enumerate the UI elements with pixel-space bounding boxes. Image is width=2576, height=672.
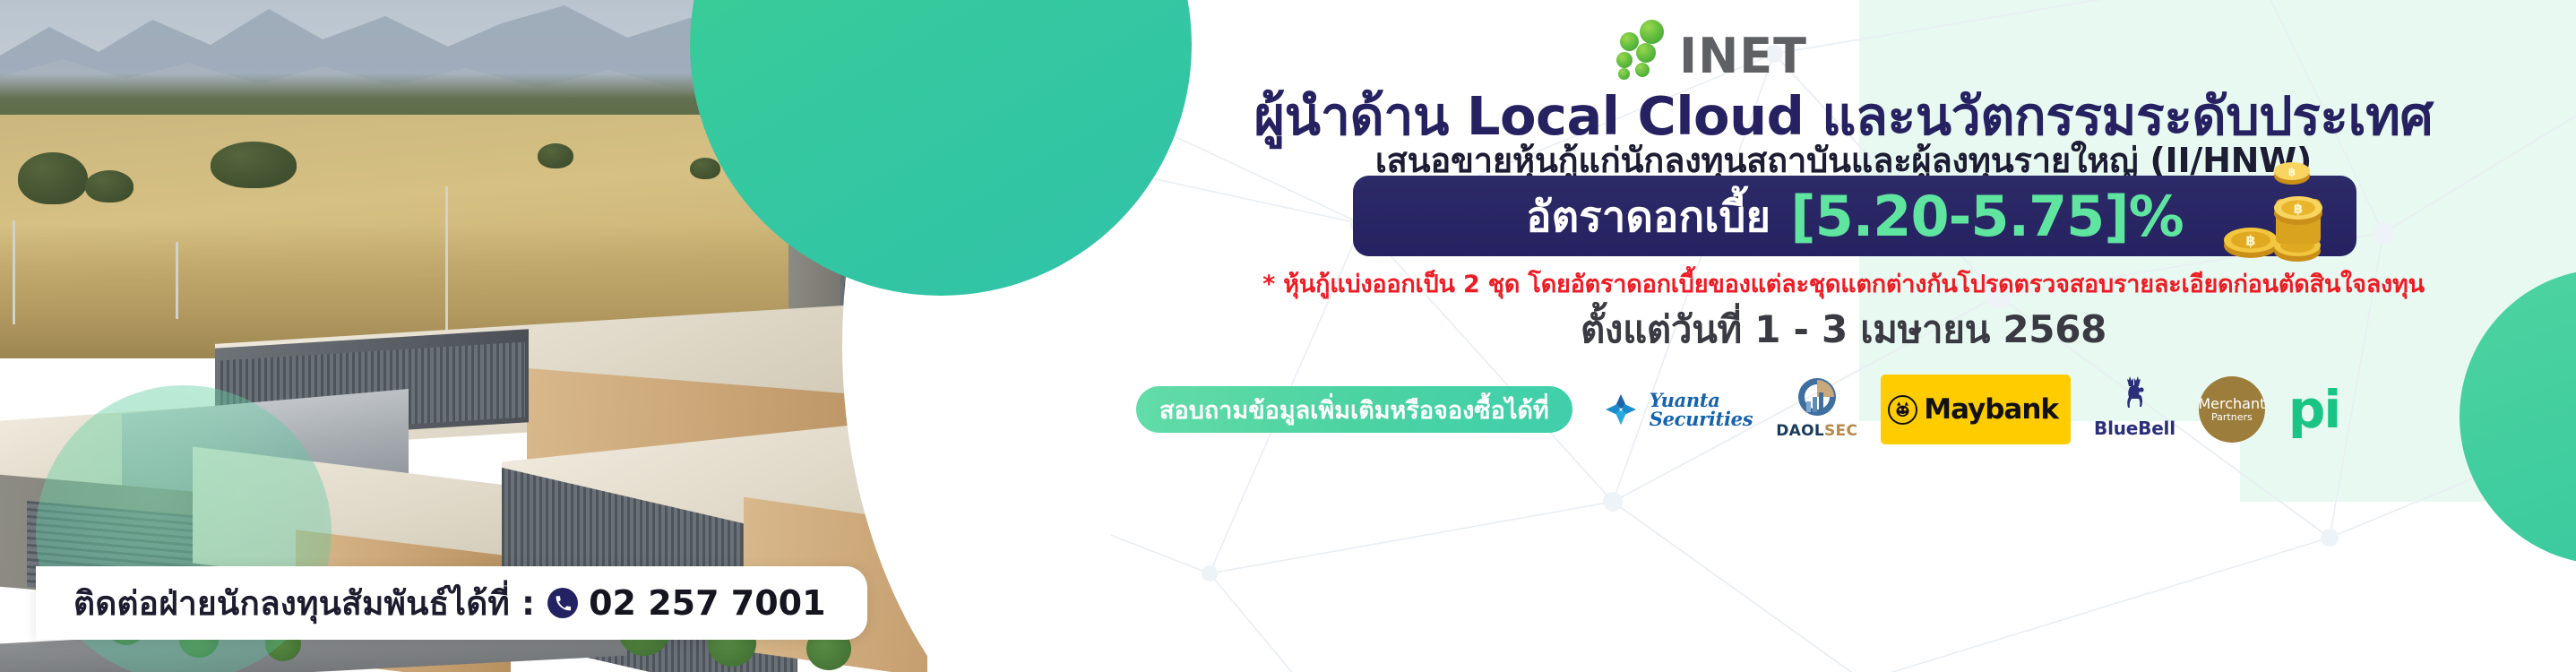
yuanta-star-icon	[1601, 390, 1641, 429]
interest-rate-value: [5.20-5.75]%	[1790, 184, 2183, 249]
contact-label: ติดต่อฝ่ายนักลงทุนสัมพันธ์ได้ที่ :	[73, 577, 535, 630]
investor-relations-contact-card[interactable]: ติดต่อฝ่ายนักลงทุนสัมพันธ์ได้ที่ : 02 25…	[36, 566, 867, 640]
daol-name-main: DAOL	[1776, 422, 1824, 440]
partner-logo-maybank[interactable]: Maybank	[1881, 375, 2071, 444]
interest-rate-box: อัตราดอกเบี้ย [5.20-5.75]%	[1353, 176, 2356, 256]
svg-text:฿: ฿	[2245, 232, 2255, 249]
inet-logo-text: INET	[1679, 34, 1807, 79]
daol-name-sub: SEC	[1824, 422, 1857, 440]
photo-utility-pole	[176, 242, 178, 319]
gold-coins-icon: ฿ ฿ ฿	[2215, 159, 2331, 265]
photo-tree	[211, 142, 297, 188]
interest-rate-panel: อัตราดอกเบี้ย [5.20-5.75]% ฿ ฿	[1353, 176, 2356, 256]
photo-tree	[85, 170, 134, 202]
partner-logo-merchant[interactable]: Merchant Partners	[2199, 375, 2265, 444]
photo-tree	[538, 143, 573, 168]
partner-row: สอบถามข้อมูลเพิ่มเติมหรือจองซื้อได้ที่ Y…	[1111, 369, 2576, 450]
merchant-circle-icon: Merchant Partners	[2199, 376, 2265, 443]
promotional-banner: ติดต่อฝ่ายนักลงทุนสัมพันธ์ได้ที่ : 02 25…	[0, 0, 2576, 672]
yuanta-name-line1: Yuanta	[1650, 391, 1753, 409]
partner-logo-bluebell[interactable]: BlueBell	[2094, 375, 2175, 444]
yuanta-wordmark: Yuanta Securities	[1650, 391, 1753, 428]
photo-tree	[18, 152, 88, 204]
partner-logo-pi[interactable]: pi	[2288, 375, 2339, 444]
bluebell-wordmark: BlueBell	[2094, 418, 2175, 439]
inquiry-cta-button[interactable]: สอบถามข้อมูลเพิ่มเติมหรือจองซื้อได้ที่	[1136, 386, 1572, 433]
partner-logos: Yuanta Securities DAOLSEC	[1601, 375, 2340, 444]
merchant-name-line2: Partners	[2211, 412, 2253, 423]
phone-icon	[547, 588, 578, 618]
inet-logo[interactable]: INET	[1613, 16, 1807, 79]
yuanta-name-line2: Securities	[1650, 409, 1753, 428]
bluebell-deer-icon	[2114, 375, 2155, 416]
photo-utility-pole	[13, 220, 15, 324]
photo-tree	[690, 158, 720, 179]
daol-wordmark: DAOLSEC	[1776, 422, 1857, 440]
banner-content: INET ผู้นำด้าน Local Cloud และนวัตกรรมระ…	[1111, 0, 2576, 672]
svg-text:฿: ฿	[2288, 166, 2296, 178]
photo-utility-pole	[445, 186, 448, 337]
partner-logo-yuanta[interactable]: Yuanta Securities	[1601, 375, 1753, 444]
contact-phone-number[interactable]: 02 257 7001	[589, 583, 825, 623]
maybank-tiger-icon	[1888, 395, 1917, 425]
merchant-name-line1: Merchant	[2198, 397, 2265, 412]
pi-wordmark-icon: pi	[2288, 389, 2339, 430]
offering-dates: ตั้งแต่วันที่ 1 - 3 เมษายน 2568	[1111, 300, 2576, 359]
partner-logo-daol[interactable]: DAOLSEC	[1776, 375, 1857, 444]
maybank-wordmark: Maybank	[1924, 393, 2058, 426]
inet-dots-logo-icon	[1613, 18, 1676, 79]
daol-pie-icon	[1795, 375, 1839, 419]
svg-text:฿: ฿	[2294, 201, 2303, 217]
disclaimer-footnote: * หุ้นกู้แบ่งออกเป็น 2 ชุด โดยอัตราดอกเบ…	[1111, 264, 2576, 303]
interest-rate-label: อัตราดอกเบี้ย	[1526, 183, 1770, 250]
